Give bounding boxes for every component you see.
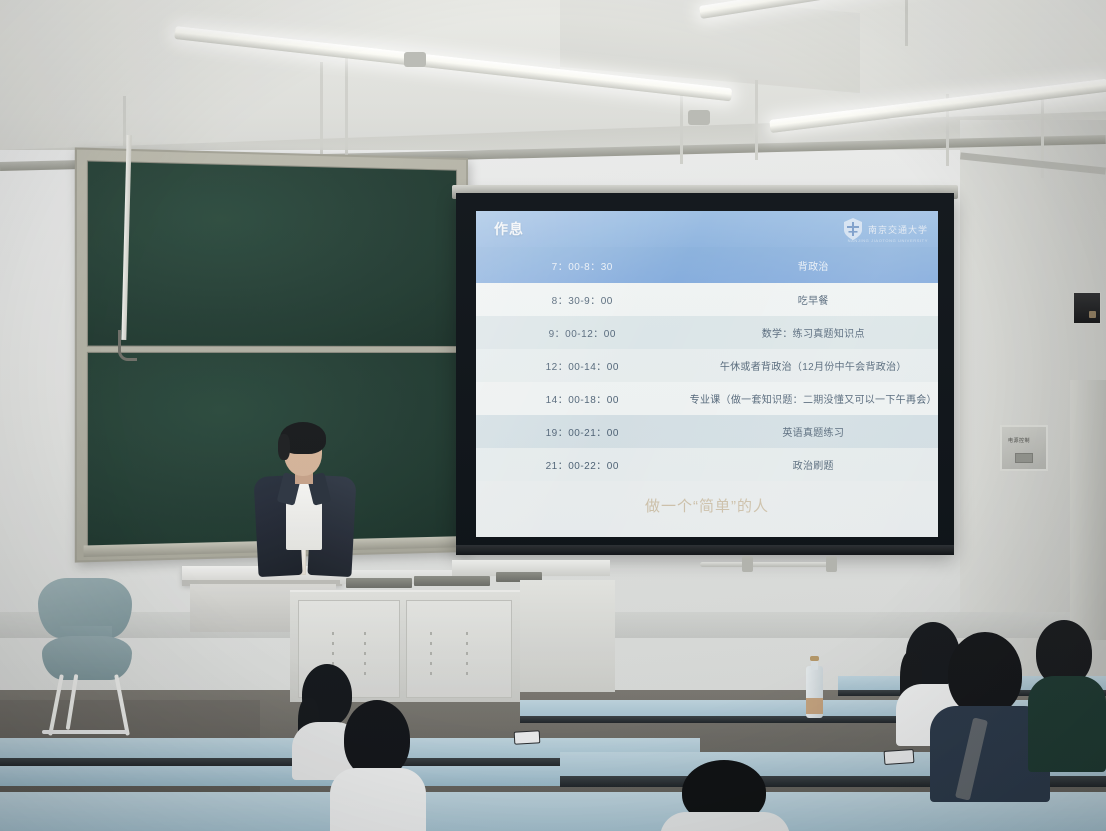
chalkboard-upper-panel	[87, 160, 457, 347]
slide-header: 作息 南京交通大学 NANJING JIAOTONG UNIVERSITY	[476, 211, 938, 247]
row-task: 吃早餐	[689, 292, 938, 307]
wall-socket[interactable]	[1015, 453, 1033, 463]
desk-vent-slot	[414, 576, 490, 586]
light-suspension-rod	[345, 58, 348, 156]
light-suspension-rod	[680, 92, 683, 164]
classroom-photo: 作息 南京交通大学 NANJING JIAOTONG UNIVERSITY	[0, 0, 1106, 831]
table-row: 12：00-14：00 午休或者背政治（12月份中午会背政治）	[476, 349, 938, 382]
wall-mounted-display[interactable]	[1073, 292, 1101, 324]
slide-footer-text: 做一个“简单”的人	[476, 481, 938, 516]
water-bottle[interactable]	[806, 656, 823, 718]
university-name-english: NANJING JIAOTONG UNIVERSITY	[848, 238, 928, 243]
projected-slide: 作息 南京交通大学 NANJING JIAOTONG UNIVERSITY	[476, 211, 938, 537]
pointer-hook	[118, 330, 137, 361]
row-time: 9：00-12：00	[476, 325, 689, 340]
table-row: 21：00-22：00 政治刷题	[476, 448, 938, 481]
wall-panel-label: 电源控制	[1008, 437, 1030, 444]
presenter-sideburn	[278, 434, 290, 460]
table-row: 19：00-21：00 英语真题练习	[476, 415, 938, 448]
row-task: 数学：练习真题知识点	[689, 325, 938, 340]
chair-leg	[66, 674, 79, 730]
light-end-cap	[404, 52, 426, 67]
presenter	[250, 418, 360, 578]
row-task: 背政治	[689, 258, 938, 273]
student-front-left	[330, 700, 426, 831]
cabinet-door-right[interactable]	[406, 600, 512, 698]
wall-control-panel[interactable]: 电源控制	[1000, 425, 1048, 471]
table-row: 14：00-18：00 专业课（做一套知识题：二期没懂又可以一下午再会）	[476, 382, 938, 415]
row-task: 午休或者背政治（12月份中午会背政治）	[689, 358, 938, 373]
slide-title: 作息	[494, 219, 524, 239]
light-suspension-rod	[905, 0, 908, 46]
row-time: 8：30-9：00	[476, 292, 689, 307]
row-time: 12：00-14：00	[476, 358, 689, 373]
desk-vent-slot	[346, 578, 412, 588]
row-time: 7：00-8：30	[476, 258, 689, 273]
table-row: 7：00-8：30 背政治	[476, 247, 938, 283]
light-suspension-rod	[320, 62, 323, 162]
chair-leg	[48, 674, 64, 736]
row-time: 21：00-22：00	[476, 457, 689, 472]
light-suspension-rod	[755, 80, 758, 160]
row-task: 专业课（做一套知识题：二期没懂又可以一下午再会）	[689, 391, 938, 406]
row-task: 政治刷题	[689, 457, 938, 472]
pipe-bracket	[826, 556, 837, 572]
row-task: 英语真题练习	[689, 424, 938, 439]
device-indicator	[1089, 311, 1096, 318]
projection-screen[interactable]: 作息 南京交通大学 NANJING JIAOTONG UNIVERSITY	[456, 193, 954, 553]
side-cabinet[interactable]	[520, 580, 615, 692]
wall-pipe	[700, 562, 836, 567]
student-far-right	[1028, 620, 1106, 770]
university-name: 南京交通大学	[868, 223, 928, 236]
row-time: 19：00-21：00	[476, 424, 689, 439]
chair-leg	[114, 674, 130, 736]
student-center-front	[660, 760, 790, 831]
chair-seat	[42, 636, 132, 680]
schedule-table: 7：00-8：30 背政治 8：30-9：00 吃早餐 9：00-12：00 数…	[476, 247, 938, 481]
projection-screen-weight-bar	[456, 545, 954, 555]
table-row: 9：00-12：00 数学：练习真题知识点	[476, 316, 938, 349]
smartphone[interactable]	[514, 730, 541, 744]
right-door[interactable]	[1070, 380, 1106, 640]
pipe-bracket	[742, 556, 753, 572]
light-end-cap	[688, 110, 710, 125]
table-row: 8：30-9：00 吃早餐	[476, 283, 938, 316]
chair-base-rail	[42, 730, 128, 734]
row-time: 14：00-18：00	[476, 391, 689, 406]
classroom-chair[interactable]	[28, 578, 148, 728]
